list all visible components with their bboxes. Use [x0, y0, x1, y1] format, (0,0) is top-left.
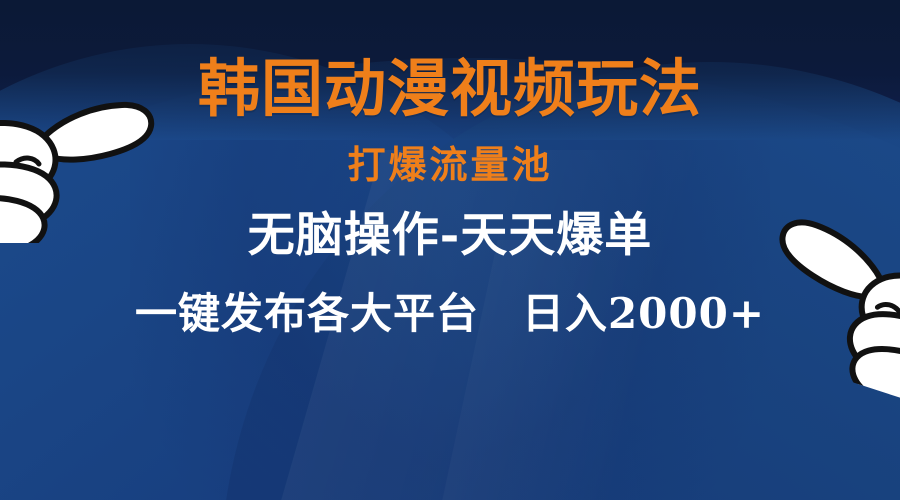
promo-banner: 韩国动漫视频玩法 打爆流量池 无脑操作-天天爆单 一键发布各大平台 日入2000… [0, 0, 900, 500]
footer-claim-text: 一键发布各大平台 日入2000+ [135, 293, 765, 335]
tagline-text: 无脑操作-天天爆单 [248, 212, 653, 259]
subheadline-text: 打爆流量池 [347, 146, 552, 184]
headline-title: 韩国动漫视频玩法 [198, 58, 702, 120]
banner-text-block: 韩国动漫视频玩法 打爆流量池 无脑操作-天天爆单 一键发布各大平台 日入2000… [0, 0, 900, 500]
